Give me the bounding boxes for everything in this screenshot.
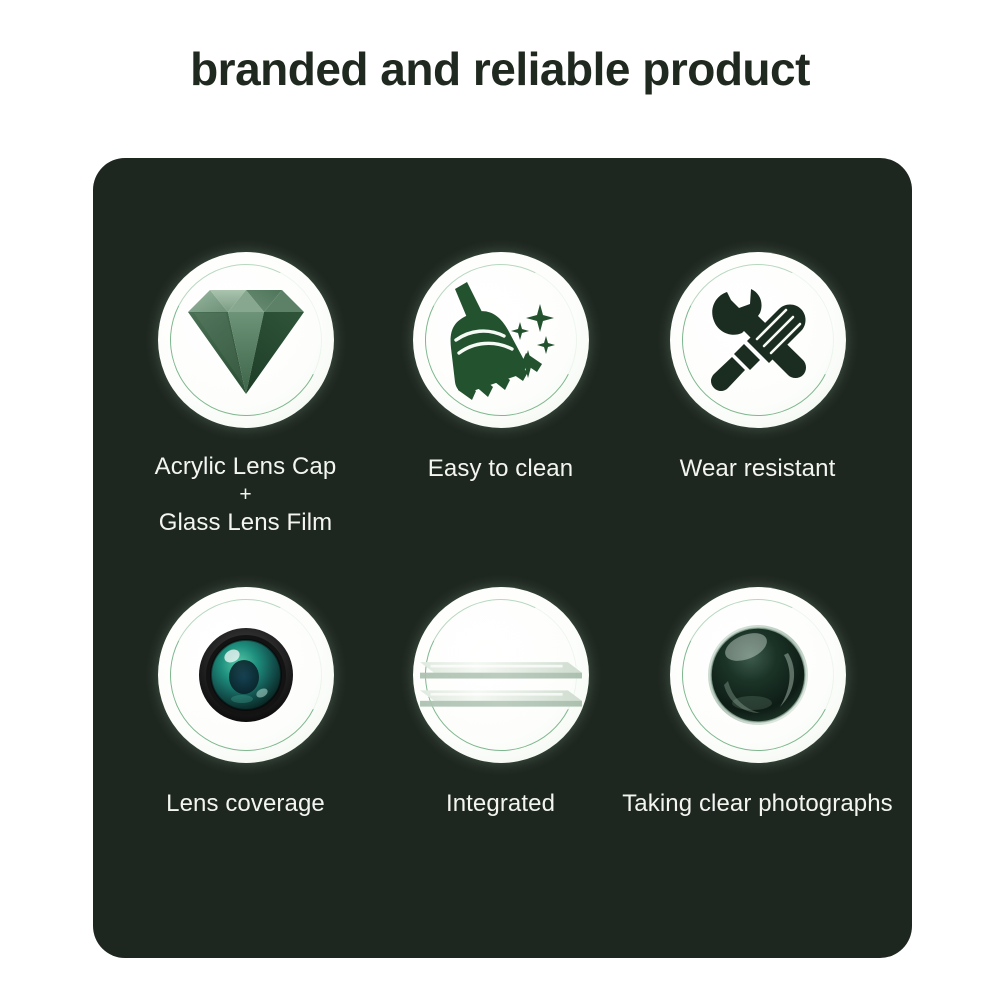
- caption-line-1: Easy to clean: [364, 452, 637, 486]
- feature-item-taking-clear-photographs: Taking clear photographs: [621, 587, 894, 821]
- feature-caption: Easy to clean: [364, 452, 637, 486]
- broom-sparkle-icon: [413, 252, 589, 428]
- caption-line-1: Integrated: [364, 787, 637, 821]
- feature-icon-disc: [158, 252, 334, 428]
- caption-line-3: Glass Lens Film: [109, 506, 382, 540]
- feature-caption: Integrated: [364, 787, 637, 821]
- feature-item-wear-resistant: Wear resistant: [621, 252, 894, 486]
- feature-item-integrated: Integrated: [364, 587, 637, 821]
- caption-line-1: Lens coverage: [109, 787, 382, 821]
- caption-line-1: Taking clear photographs: [621, 787, 894, 821]
- product-infographic: branded and reliable product: [0, 0, 1000, 1000]
- stacked-glass-sheets-icon: [413, 587, 589, 763]
- feature-item-easy-to-clean: Easy to clean: [364, 252, 637, 486]
- feature-caption: Wear resistant: [621, 452, 894, 486]
- glass-dome-icon: [670, 587, 846, 763]
- feature-icon-disc: [413, 587, 589, 763]
- page-title: branded and reliable product: [0, 44, 1000, 95]
- feature-icon-disc: [413, 252, 589, 428]
- caption-line-1: Acrylic Lens Cap: [109, 450, 382, 484]
- feature-item-acrylic-lens-cap: Acrylic Lens Cap + Glass Lens Film: [109, 252, 382, 540]
- diamond-icon: [158, 252, 334, 428]
- caption-line-1: Wear resistant: [621, 452, 894, 486]
- feature-icon-disc: [158, 587, 334, 763]
- feature-panel: Acrylic Lens Cap + Glass Lens Film: [93, 158, 912, 958]
- camera-lens-icon: [158, 587, 334, 763]
- feature-item-lens-coverage: Lens coverage: [109, 587, 382, 821]
- wrench-screwdriver-icon: [670, 252, 846, 428]
- feature-caption: Acrylic Lens Cap + Glass Lens Film: [109, 450, 382, 540]
- feature-caption: Taking clear photographs: [621, 787, 894, 821]
- feature-grid: Acrylic Lens Cap + Glass Lens Film: [93, 158, 912, 958]
- feature-icon-disc: [670, 587, 846, 763]
- caption-line-2: +: [109, 484, 382, 506]
- feature-icon-disc: [670, 252, 846, 428]
- feature-caption: Lens coverage: [109, 787, 382, 821]
